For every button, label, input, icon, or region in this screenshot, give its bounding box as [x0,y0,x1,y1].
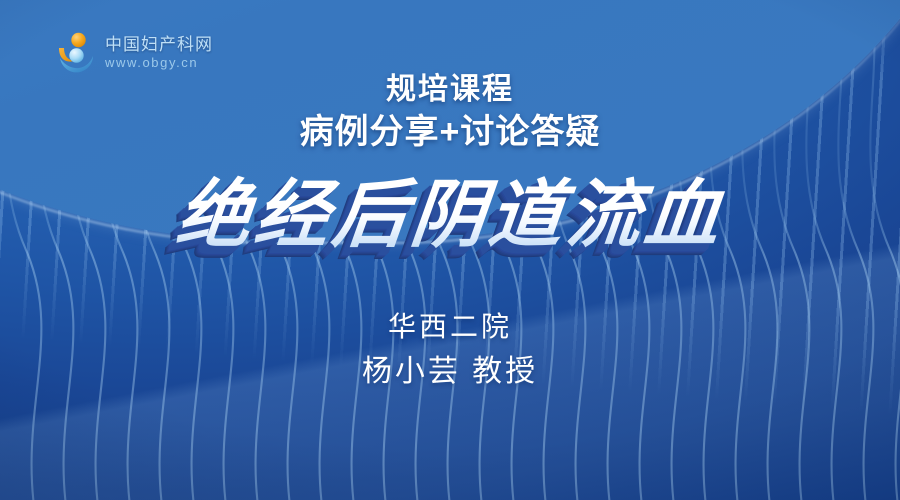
main-title: 绝经后阴道流血 绝经后阴道流血 [173,178,727,252]
presenter-name-title: 杨小芸 教授 [0,352,900,393]
logo-site-url: www.obgy.cn [105,56,213,69]
presenter-info: 华西二院 杨小芸 教授 [0,308,900,392]
subtitle-line-1: 规培课程 [0,72,900,107]
subtitle-line-2: 病例分享+讨论答疑 [0,111,900,154]
main-title-face: 绝经后阴道流血 [173,173,728,256]
presentation-slide: 中国妇产科网 www.obgy.cn 规培课程 病例分享+讨论答疑 绝经后阴道流… [0,0,900,500]
logo-site-name: 中国妇产科网 [105,36,213,53]
headline-container: 绝经后阴道流血 绝经后阴道流血 [0,178,900,288]
presenter-organization: 华西二院 [0,308,900,346]
obgy-figure-logo-icon [55,30,97,74]
course-subtitle: 规培课程 病例分享+讨论答疑 [0,72,900,154]
site-logo[interactable]: 中国妇产科网 www.obgy.cn [55,30,213,74]
